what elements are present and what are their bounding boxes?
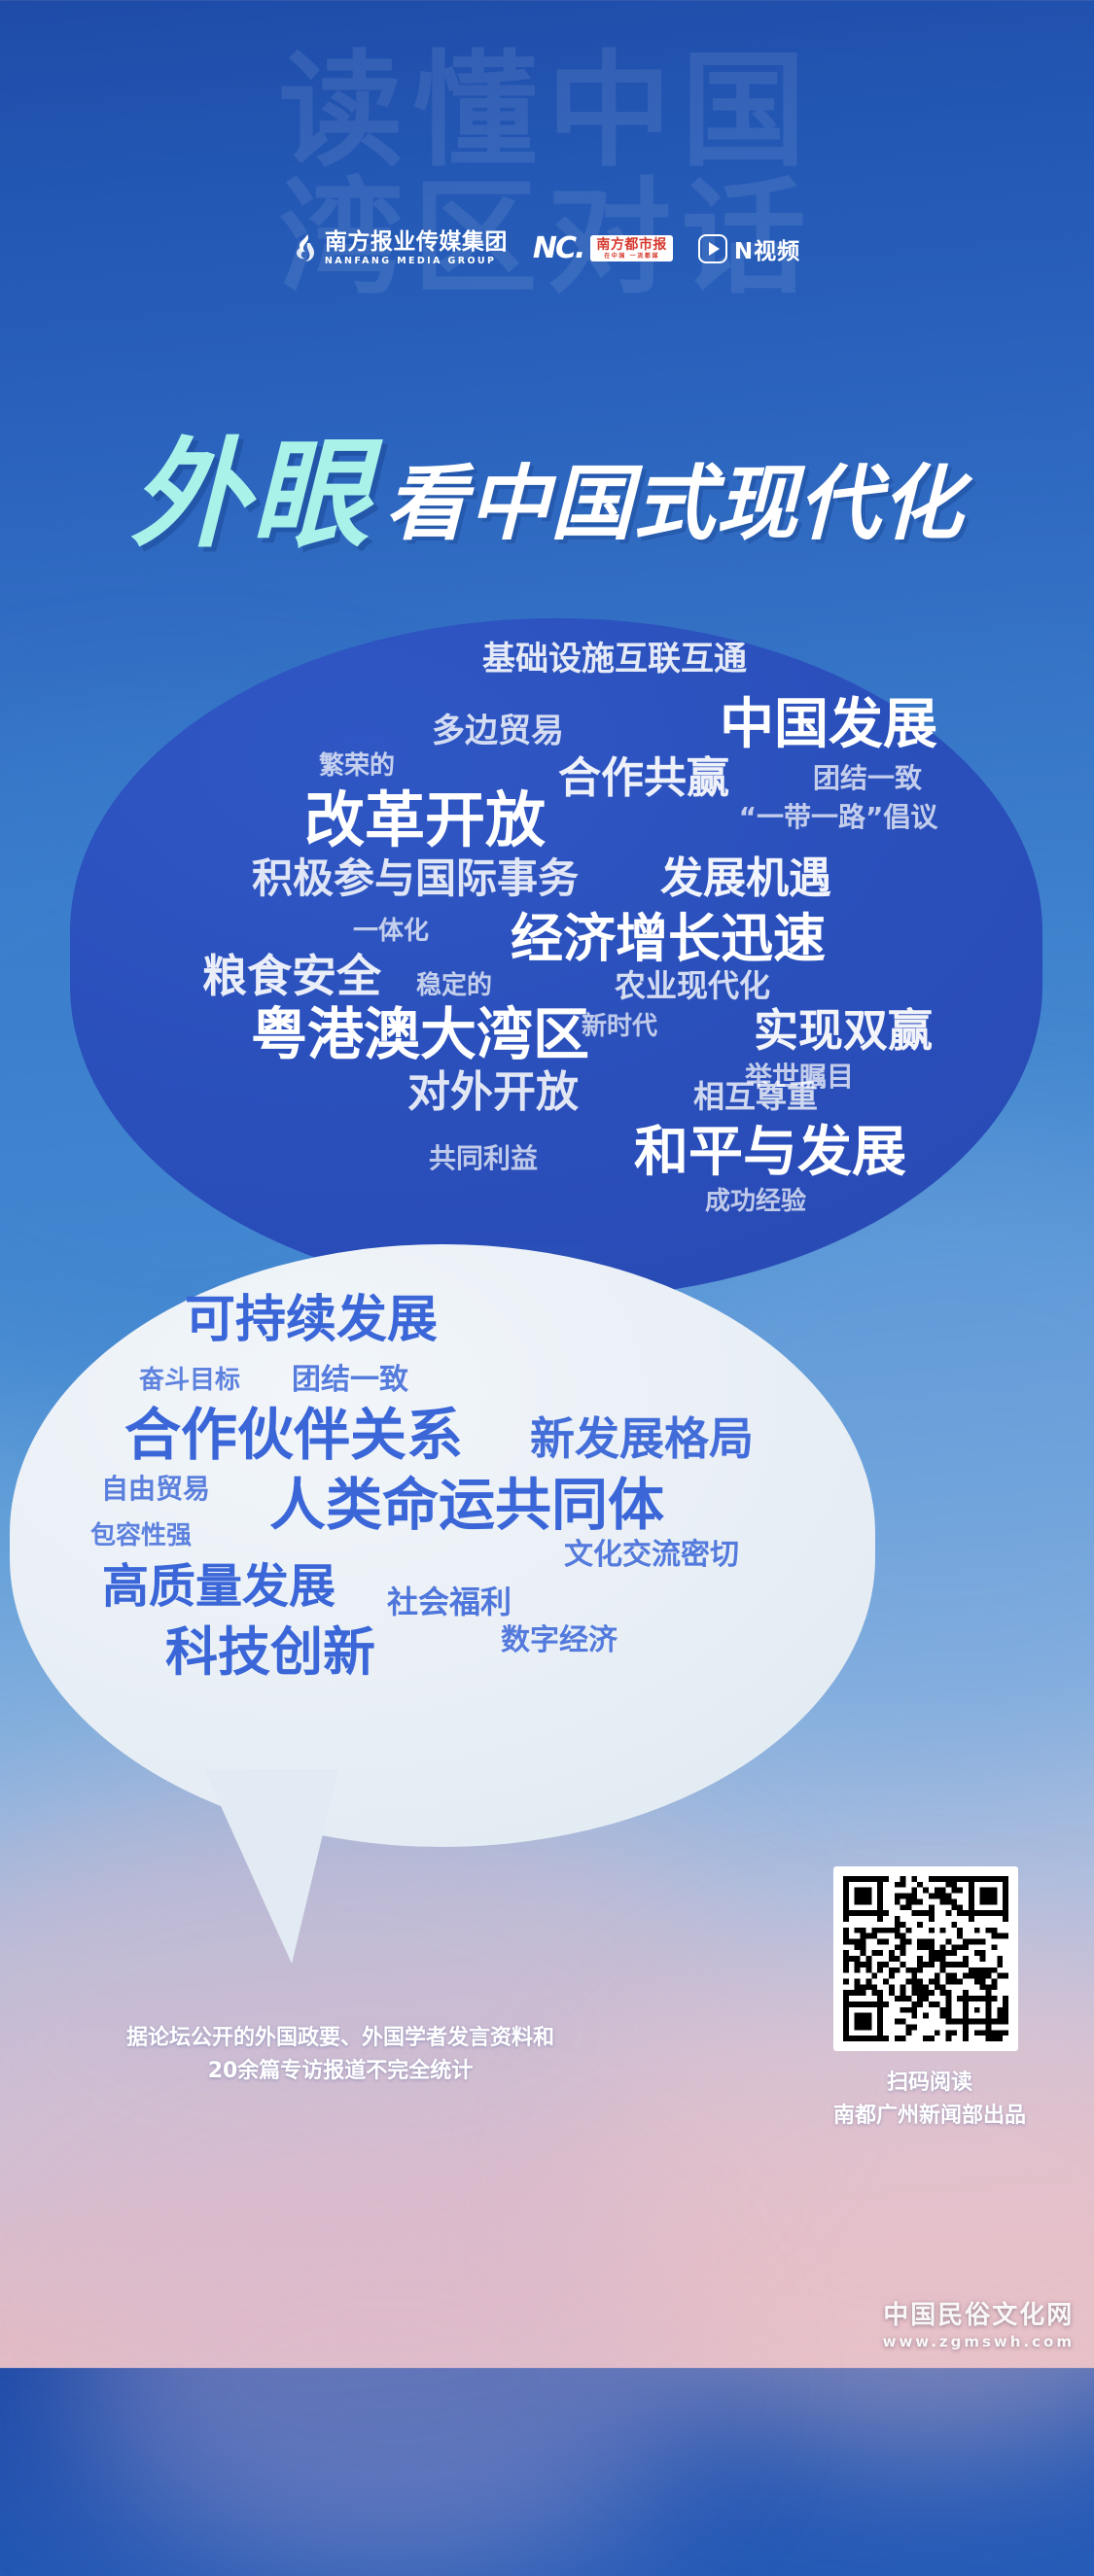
blue-word-cloud: 基础设施互联互通中国发展多边贸易繁荣的合作共赢团结一致“一带一路”倡议改革开放积… — [70, 618, 1042, 1299]
word-cloud-term: 科技创新 — [165, 1626, 375, 1679]
word-cloud-term: 粤港澳大湾区 — [251, 1006, 589, 1062]
watermark-line-1: 读懂中国 — [0, 49, 1094, 176]
word-cloud-term: “一带一路”倡议 — [739, 804, 938, 831]
word-cloud-term: 积极参与国际事务 — [252, 858, 579, 899]
word-cloud-term: 经济增长迅速 — [511, 913, 826, 965]
page-title: 外眼 看中国式现代化 — [0, 439, 1094, 552]
title-rest: 看中国式现代化 — [385, 463, 964, 552]
qr-code[interactable] — [833, 1866, 1018, 2051]
word-cloud-term: 实现双赢 — [754, 1008, 933, 1053]
logo-bar: 南方报业传媒集团 NANFANG MEDIA GROUP NC. 南方都市报 在… — [0, 231, 1094, 266]
word-cloud-term: 繁荣的 — [319, 753, 395, 779]
word-cloud-term: 团结一致 — [813, 765, 922, 792]
play-icon — [698, 234, 727, 263]
word-cloud-term: 文化交流密切 — [564, 1541, 739, 1570]
logo-nanfang-media-group: 南方报业传媒集团 NANFANG MEDIA GROUP — [294, 231, 508, 266]
word-cloud-term: 相互尊重 — [693, 1081, 818, 1112]
title-highlight: 外眼 — [130, 439, 371, 552]
word-cloud-term: 数字经济 — [501, 1626, 618, 1655]
word-cloud-term: 基础设施互联互通 — [482, 643, 747, 676]
nanfang-media-en: NANFANG MEDIA GROUP — [325, 257, 508, 266]
word-cloud-term: 社会福利 — [387, 1586, 512, 1618]
qr-section: 扫码阅读 南都广州新闻部出品 — [833, 1866, 1026, 2133]
qr-caption: 扫码阅读 南都广州新闻部出品 — [833, 2067, 1026, 2133]
nanfang-media-text: 南方报业传媒集团 NANFANG MEDIA GROUP — [325, 231, 508, 266]
site-watermark: 中国民俗文化网 www.zgmswh.com — [883, 2295, 1075, 2350]
qr-caption-line-2: 南都广州新闻部出品 — [833, 2100, 1026, 2133]
word-cloud-term: 合作共赢 — [558, 757, 729, 800]
word-cloud-term: 稳定的 — [416, 973, 492, 998]
logo-nandu: NC. 南方都市报 在中国 一流都媒 — [533, 231, 673, 265]
word-cloud-term: 高质量发展 — [102, 1563, 335, 1610]
logo-n-video: N视频 — [698, 232, 800, 265]
background-blob-bottom3 — [78, 2168, 700, 2576]
word-cloud-term: 可持续发展 — [185, 1295, 438, 1345]
nandu-badge: 南方都市报 在中国 一流都媒 — [590, 235, 673, 261]
word-cloud-term: 共同利益 — [429, 1145, 538, 1172]
word-cloud-term: 人类命运共同体 — [269, 1477, 664, 1533]
word-cloud-term: 新时代 — [582, 1014, 657, 1039]
nandu-mark-icon: NC. — [533, 231, 584, 265]
word-cloud-term: 和平与发展 — [634, 1126, 906, 1180]
word-cloud-term: 团结一致 — [292, 1366, 408, 1395]
footer-note-line-2: 20余篇专访报道不完全统计 — [97, 2055, 583, 2088]
word-cloud-term: 农业现代化 — [615, 970, 770, 1001]
flame-icon — [294, 234, 317, 263]
footer-note-line-1: 据论坛公开的外国政要、外国学者发言资料和 — [97, 2022, 583, 2055]
white-word-cloud: 可持续发展奋斗目标团结一致合作伙伴关系新发展格局自由贸易人类命运共同体包容性强文… — [10, 1244, 875, 1847]
word-cloud-term: 发展机遇 — [660, 857, 831, 900]
word-cloud-term: 成功经验 — [705, 1189, 806, 1214]
site-watermark-en: www.zgmswh.com — [883, 2333, 1075, 2350]
word-cloud-term: 粮食安全 — [202, 954, 381, 998]
word-cloud-term: 奋斗目标 — [139, 1368, 240, 1393]
word-cloud-term: 对外开放 — [407, 1071, 579, 1114]
nandu-sub: 在中国 一流都媒 — [604, 254, 659, 260]
word-cloud-term: 改革开放 — [304, 790, 546, 851]
word-cloud-term: 一体化 — [353, 919, 429, 944]
word-cloud-term: 中国发展 — [720, 698, 937, 752]
site-watermark-cn: 中国民俗文化网 — [883, 2295, 1075, 2331]
word-cloud-term: 多边贸易 — [432, 714, 564, 748]
qr-caption-line-1: 扫码阅读 — [833, 2067, 1026, 2100]
footer-note: 据论坛公开的外国政要、外国学者发言资料和 20余篇专访报道不完全统计 — [97, 2022, 583, 2088]
word-cloud-term: 自由贸易 — [101, 1476, 210, 1503]
word-cloud-term: 合作伙伴关系 — [124, 1407, 463, 1463]
n-video-label: N视频 — [734, 232, 800, 265]
nandu-cn: 南方都市报 — [596, 238, 667, 252]
word-cloud-term: 新发展格局 — [530, 1416, 754, 1461]
nanfang-media-cn: 南方报业传媒集团 — [325, 231, 508, 254]
word-cloud-term: 包容性强 — [90, 1523, 192, 1549]
